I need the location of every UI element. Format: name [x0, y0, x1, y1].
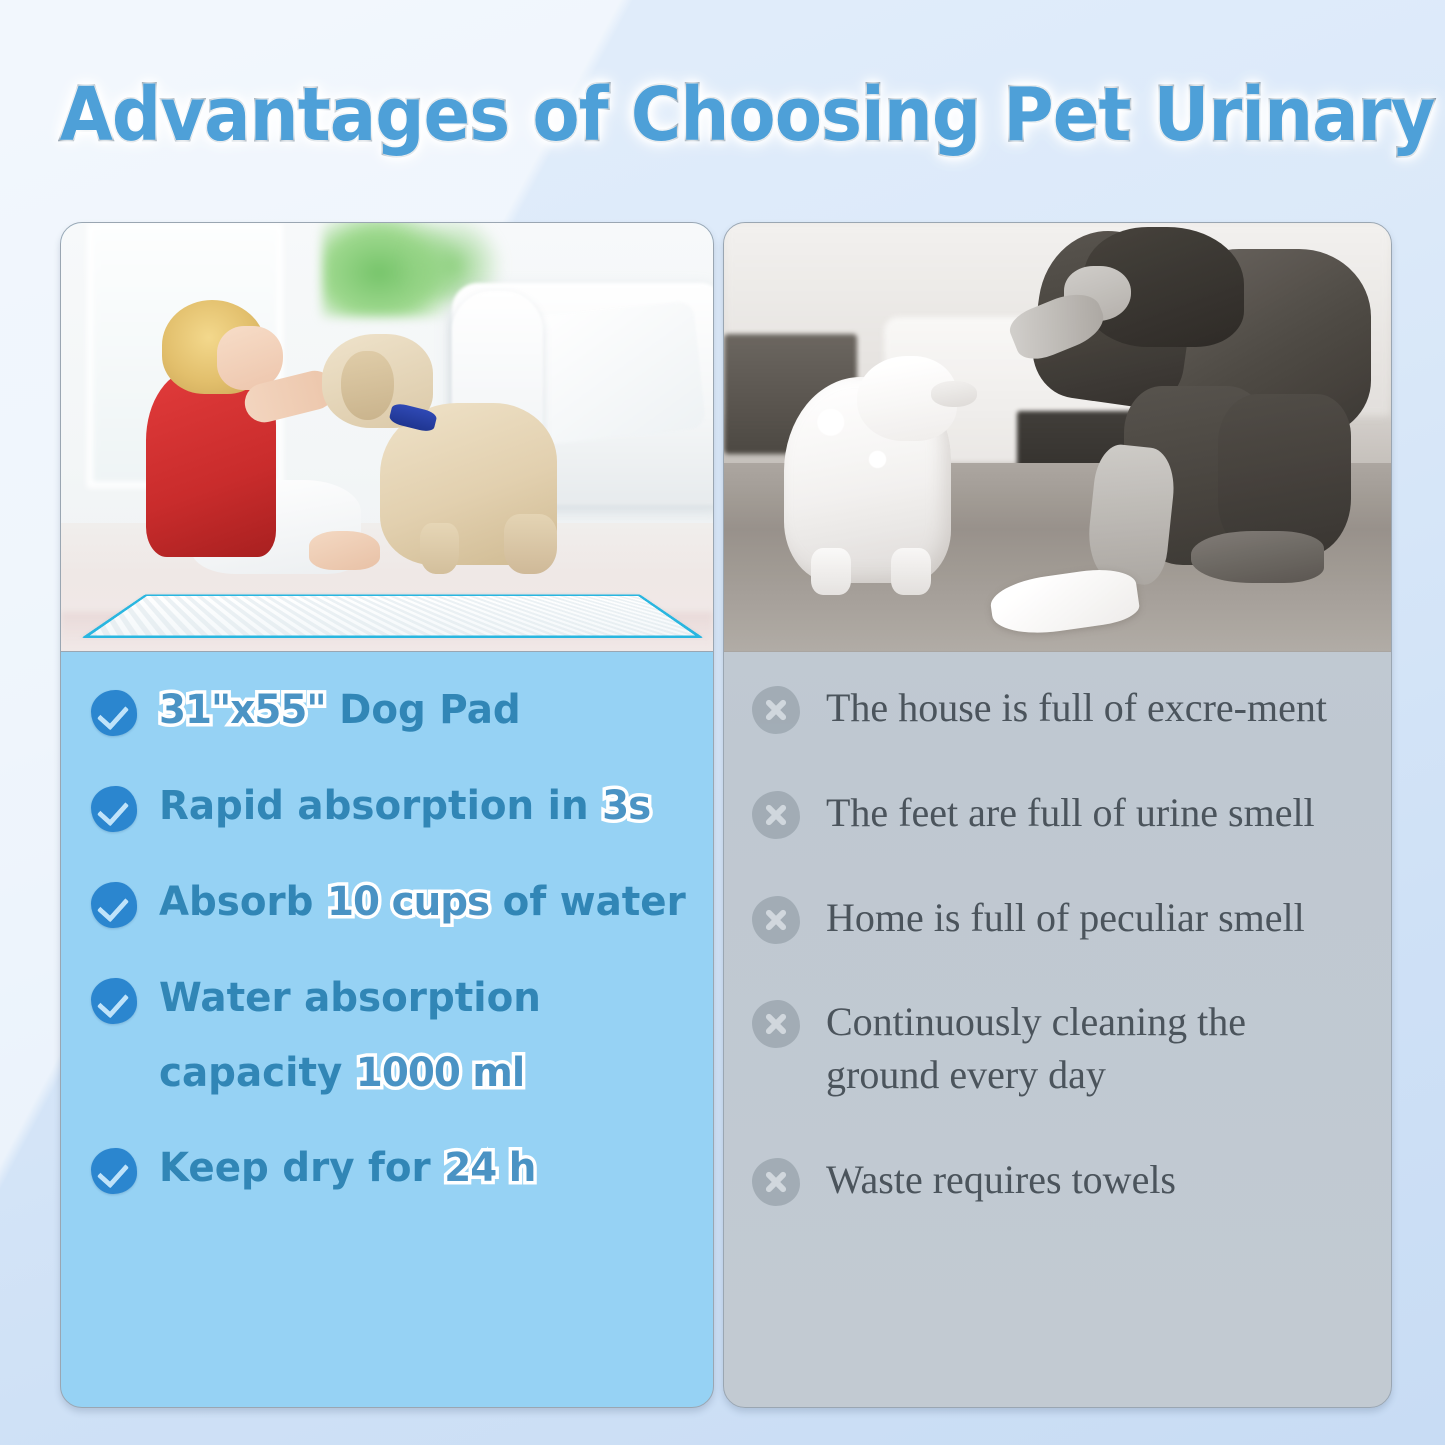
infographic-root: Advantages of Choosing Pet Urinary Mats	[0, 0, 1445, 1445]
pros-plain: of water	[489, 879, 686, 925]
pros-plain: Water absorption	[159, 975, 541, 1021]
cons-list-item: The feet are full of urine smell	[752, 787, 1392, 840]
pros-plain: Rapid absorption in	[159, 783, 602, 829]
pros-list-item: Rapid absorption in 3s	[91, 782, 714, 832]
poodle-snout-shape	[931, 381, 978, 407]
cons-list-item: Continuously cleaning the ground every d…	[752, 996, 1392, 1102]
pros-highlight: 3s	[602, 783, 650, 829]
pros-list-item: Absorb 10 cups of water	[91, 878, 714, 928]
pros-highlight: 10 cups	[327, 879, 489, 925]
pros-plain: Keep dry for	[159, 1145, 444, 1191]
cons-item-line2: ground every day	[826, 1049, 1246, 1102]
x-icon	[752, 1158, 800, 1206]
page-title: Advantages of Choosing Pet Urinary Mats	[60, 72, 1445, 158]
cons-list-item: Home is full of peculiar smell	[752, 892, 1392, 945]
pros-highlight: 24 h	[444, 1145, 535, 1191]
cushion-shape	[524, 300, 706, 445]
check-icon	[91, 978, 137, 1024]
x-icon	[752, 791, 800, 839]
check-icon	[91, 690, 137, 736]
cons-item-text: The house is full of excre-ment	[826, 682, 1327, 735]
x-icon	[752, 686, 800, 734]
pros-plain: Absorb	[159, 879, 327, 925]
pros-photo	[61, 223, 713, 652]
boy-feet-shape	[309, 531, 381, 570]
poodle-hind-leg-shape	[891, 548, 931, 595]
pros-list-item: Water absorption capacity 1000 ml	[91, 974, 714, 1098]
check-icon	[91, 786, 137, 832]
pros-highlight: 31"x55"	[159, 687, 326, 733]
puppy-hind-leg-shape	[504, 514, 556, 574]
cons-item-text: The feet are full of urine smell	[826, 787, 1315, 840]
puppy-ear-shape	[341, 351, 393, 419]
woman-shoe-shape	[1191, 531, 1324, 582]
check-icon	[91, 1148, 137, 1194]
cons-item-text: Waste requires towels	[826, 1154, 1176, 1207]
cons-item-text: Continuously cleaning the ground every d…	[826, 996, 1246, 1102]
pros-plain: capacity	[159, 1050, 356, 1096]
check-icon	[91, 882, 137, 928]
woman-wiping-arm-shape	[1084, 442, 1178, 587]
pros-item-text: Absorb 10 cups of water	[159, 878, 686, 927]
pros-panel: 31"x55" Dog Pad Rapid absorption in 3s A…	[60, 222, 714, 1408]
pet-pad-shape	[81, 594, 704, 638]
poodle-front-leg-shape	[811, 548, 851, 595]
pros-list: 31"x55" Dog Pad Rapid absorption in 3s A…	[61, 652, 714, 1240]
page-title-wrap: Advantages of Choosing Pet Urinary Mats	[0, 72, 1445, 158]
pros-item-text: Keep dry for 24 h	[159, 1144, 535, 1193]
pros-item-text: 31"x55" Dog Pad	[159, 686, 521, 735]
cons-list-item: Waste requires towels	[752, 1154, 1392, 1207]
cons-list-item: The house is full of excre-ment	[752, 682, 1392, 735]
puppy-front-leg-shape	[420, 523, 459, 574]
cons-photo	[724, 223, 1391, 652]
cons-panel: The house is full of excre-ment The feet…	[723, 222, 1392, 1408]
pros-highlight: 1000 ml	[356, 1050, 524, 1096]
pros-item-text: Water absorption capacity 1000 ml	[159, 974, 541, 1098]
x-icon	[752, 896, 800, 944]
cons-list: The house is full of excre-ment The feet…	[724, 652, 1392, 1259]
pros-item-text: Rapid absorption in 3s	[159, 782, 650, 831]
cons-item-line1: Continuously cleaning the	[826, 999, 1246, 1044]
x-icon	[752, 1000, 800, 1048]
cons-item-text: Home is full of peculiar smell	[826, 892, 1305, 945]
pros-plain: Dog Pad	[326, 687, 521, 733]
pros-list-item: 31"x55" Dog Pad	[91, 686, 714, 736]
pros-item-line2: capacity 1000 ml	[159, 1049, 541, 1098]
pros-list-item: Keep dry for 24 h	[91, 1144, 714, 1194]
